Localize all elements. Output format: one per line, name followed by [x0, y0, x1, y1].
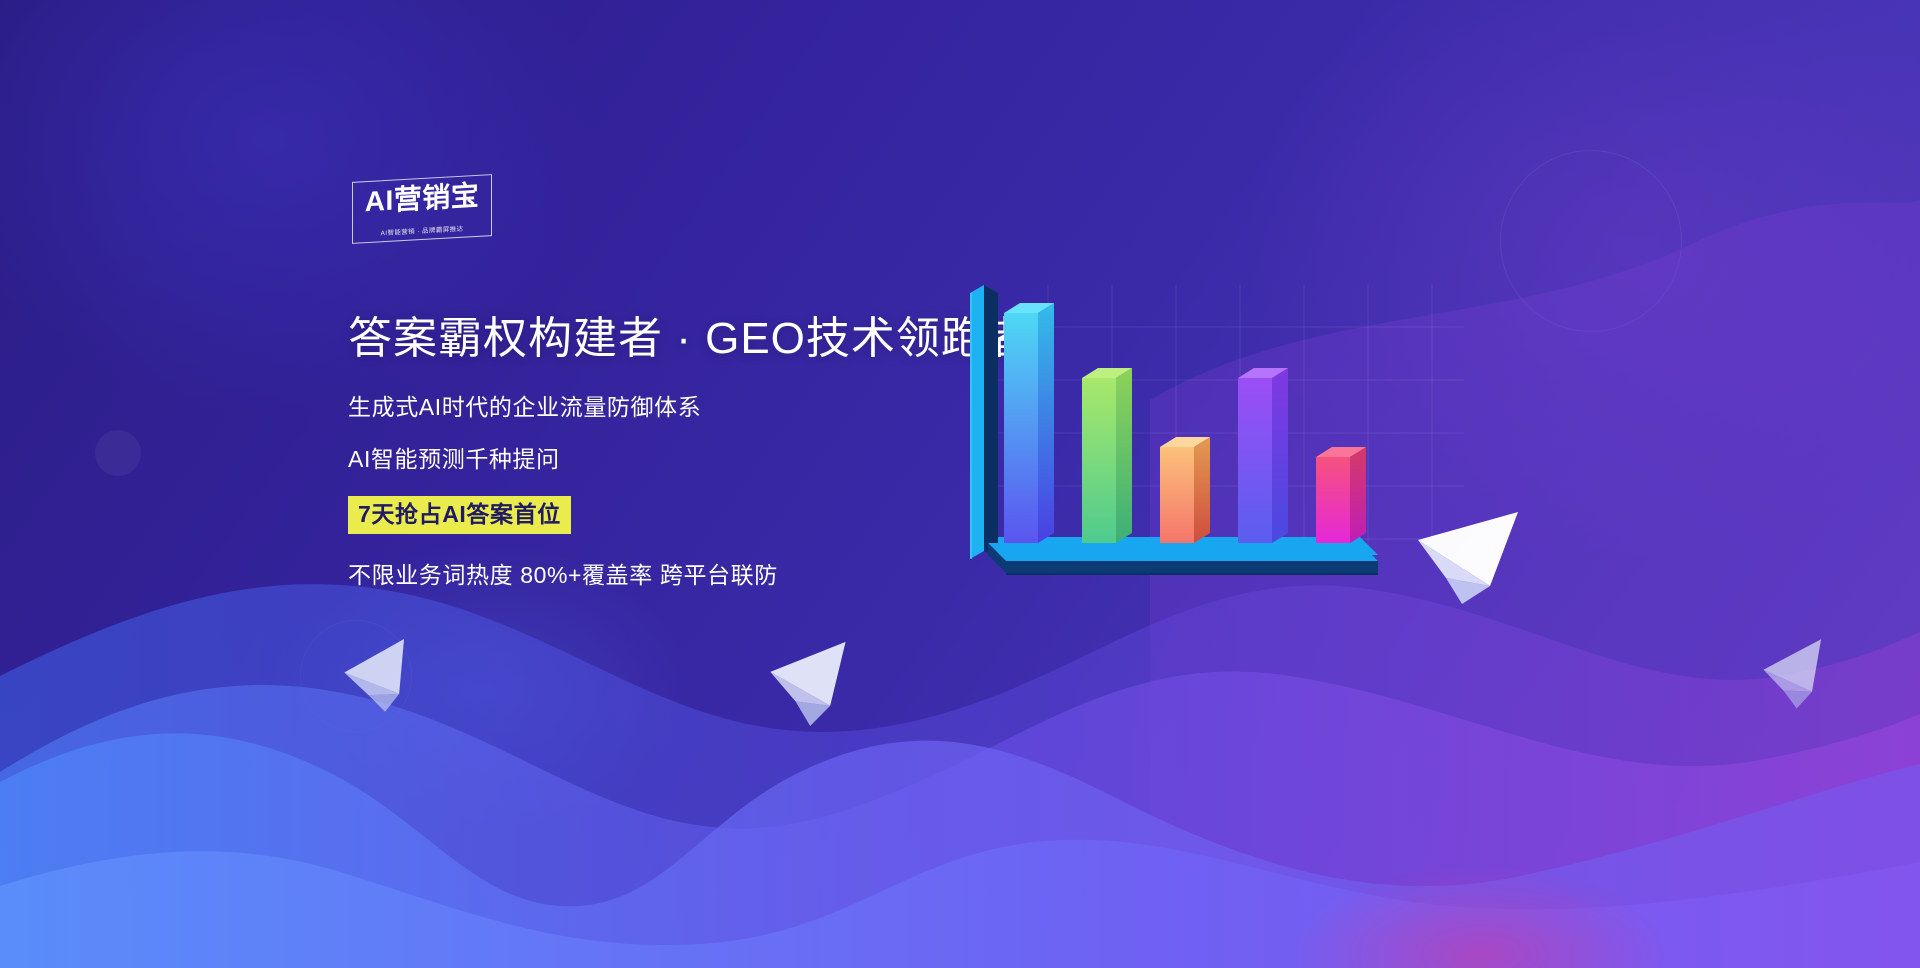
chart-bar	[1238, 368, 1288, 543]
chart-floor-lip	[988, 543, 1378, 573]
chart-bar	[1316, 447, 1366, 543]
chart-gridlines	[994, 285, 1464, 543]
chart-bar	[1082, 368, 1132, 543]
hero-banner: AI营销宝 AI智能营销 · 品牌霸屏推达 答案霸权构建者 · GEO技术领跑者…	[0, 0, 1920, 968]
bar-chart	[960, 285, 1480, 675]
paper-plane-icon	[768, 642, 854, 730]
hero-highlight-badge: 7天抢占AI答案首位	[348, 496, 571, 534]
chart-bar	[1004, 303, 1054, 543]
chart-bar	[1160, 437, 1210, 543]
brand-logo[interactable]: AI营销宝 AI智能营销 · 品牌霸屏推达	[352, 178, 492, 240]
chart-y-axis	[970, 285, 998, 567]
